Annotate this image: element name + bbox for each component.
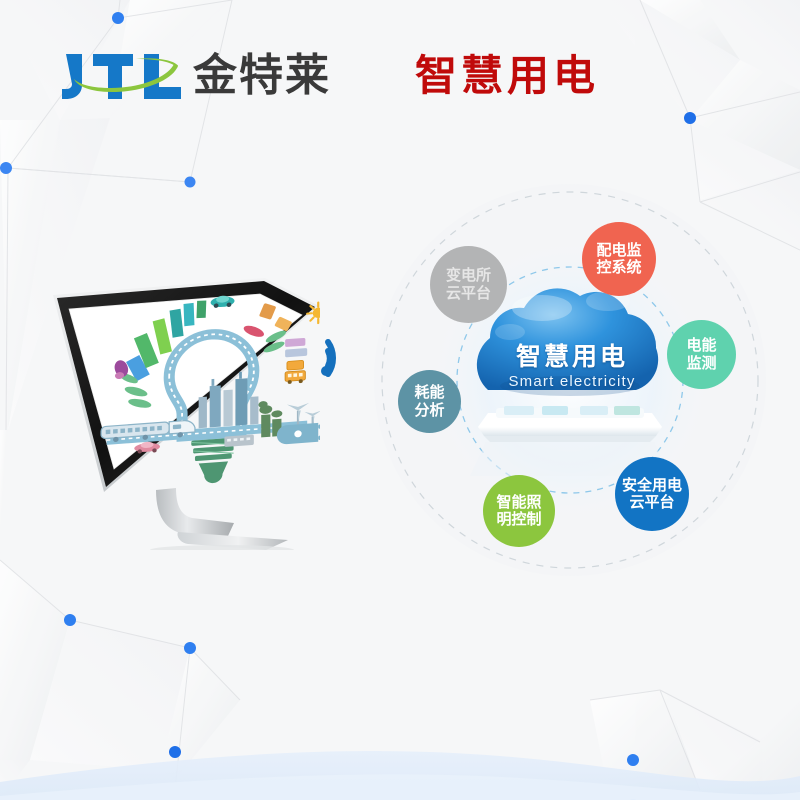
smart-electricity-diagram: 智慧用电 Smart electricity 变电所 云平台 配电监 控系统 电… xyxy=(370,180,770,580)
monitor-stand-neck xyxy=(156,488,234,536)
bubble-pdjk[interactable]: 配电监 控系统 xyxy=(582,222,656,296)
brand-logo: 金特莱 xyxy=(60,48,331,104)
bubble-pdjk-line2: 控系统 xyxy=(596,259,641,276)
bubble-hnfx-line1: 耗能 xyxy=(414,384,444,401)
poster-canvas: 金特莱 智慧用电 xyxy=(0,0,800,800)
bubble-znzm-line2: 明控制 xyxy=(496,511,541,528)
bubble-bdsyp[interactable]: 变电所 云平台 xyxy=(430,246,507,323)
slogan-title: 智慧用电 xyxy=(415,50,599,102)
brand-name-cn: 金特莱 xyxy=(193,48,331,104)
bubble-hnfx-line2: 分析 xyxy=(414,402,444,419)
bubble-znzm-line1: 智能照 xyxy=(496,494,541,511)
bubble-pdjk-line1: 配电监 xyxy=(596,242,641,259)
header: 金特莱 智慧用电 xyxy=(0,0,800,140)
jtl-swoosh-logo xyxy=(60,48,185,104)
wifi-icon xyxy=(315,330,371,382)
bubble-bdsyp-line1: 变电所 xyxy=(446,267,491,284)
bubble-hnfx[interactable]: 耗能 分析 xyxy=(398,370,461,433)
bubble-aqyd-line2: 云平台 xyxy=(629,494,674,511)
bubble-dnjc-line2: 监测 xyxy=(686,355,716,372)
bubble-znzm[interactable]: 智能照 明控制 xyxy=(483,475,555,547)
bubble-aqyd[interactable]: 安全用电 云平台 xyxy=(615,457,689,531)
bubble-bdsyp-line2: 云平台 xyxy=(446,285,491,302)
desktop-monitor xyxy=(52,278,320,548)
bubble-dnjc-line1: 电能 xyxy=(686,337,716,354)
bubble-dnjc[interactable]: 电能 监测 xyxy=(667,320,736,389)
bubble-aqyd-line1: 安全用电 xyxy=(622,477,682,494)
